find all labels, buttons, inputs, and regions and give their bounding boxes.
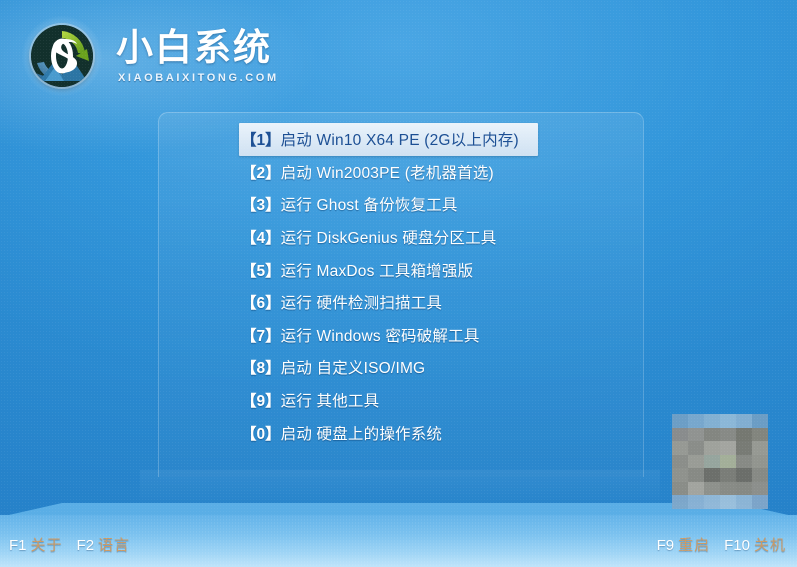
mosaic-tile [704,441,720,455]
brand-subtitle: XIAOBAIXITONG.COM [118,72,279,85]
footer-key-f10[interactable]: F10 [724,537,750,554]
menu-item-9[interactable]: 【9】运行 其他工具 [159,384,643,417]
mosaic-tile [752,482,768,496]
mosaic-tile [672,455,688,469]
mosaic-tile [720,482,736,496]
mosaic-tile [704,468,720,482]
boot-menu-list: 【1】启动 Win10 X64 PE (2G以上内存)【2】启动 Win2003… [159,123,643,449]
menu-item-key: 【9】 [241,389,281,411]
mosaic-tile [688,455,704,469]
mosaic-tile [688,495,704,509]
menu-item-label: 运行 其他工具 [281,389,380,411]
footer-label-f1[interactable]: 关于 [31,537,63,554]
recycle-circle-logo-icon [22,16,102,96]
mosaic-tile [704,495,720,509]
mosaic-tile [720,468,736,482]
mosaic-tile [736,414,752,428]
footer-right-hints: F9重启F10关机 [657,536,786,556]
footer-key-f1[interactable]: F1 [9,537,27,554]
mosaic-tile [720,495,736,509]
brand-title: 小白系统 [116,28,272,68]
menu-item-key: 【5】 [241,259,281,281]
footer-left-hints: F1关于F2语言 [9,536,130,556]
mosaic-tile [736,455,752,469]
mosaic-tile [752,441,768,455]
menu-item-key: 【7】 [241,324,281,346]
mosaic-tile [720,414,736,428]
mosaic-tile [688,441,704,455]
mosaic-tile [704,482,720,496]
menu-item-label: 运行 硬件检测扫描工具 [281,291,443,313]
mosaic-tile [720,428,736,442]
menu-item-key: 【0】 [241,422,281,444]
mosaic-tile [704,455,720,469]
menu-item-label: 启动 自定义ISO/IMG [281,356,426,378]
mosaic-tile [752,414,768,428]
censored-mosaic-block [672,414,768,509]
menu-item-7[interactable]: 【7】运行 Windows 密码破解工具 [159,319,643,352]
menu-item-6[interactable]: 【6】运行 硬件检测扫描工具 [159,286,643,319]
mosaic-tile [672,441,688,455]
menu-item-3[interactable]: 【3】运行 Ghost 备份恢复工具 [159,188,643,221]
mosaic-tile [752,428,768,442]
menu-item-4[interactable]: 【4】运行 DiskGenius 硬盘分区工具 [159,221,643,254]
mosaic-tile [720,441,736,455]
mosaic-tile [672,468,688,482]
menu-item-10[interactable]: 【0】启动 硬盘上的操作系统 [159,416,643,449]
menu-item-key: 【1】 [241,128,281,150]
footer-label-f10[interactable]: 关机 [754,537,786,554]
mosaic-tile [672,414,688,428]
menu-item-key: 【8】 [241,356,281,378]
mosaic-tile [688,414,704,428]
mosaic-tile [736,428,752,442]
boot-menu-screen: 小白系统 XIAOBAIXITONG.COM 【1】启动 Win10 X64 P… [0,0,797,567]
menu-item-label: 运行 Ghost 备份恢复工具 [281,193,458,215]
mosaic-tile [704,414,720,428]
menu-item-5[interactable]: 【5】运行 MaxDos 工具箱增强版 [159,253,643,286]
mosaic-tile [688,482,704,496]
menu-item-label: 启动 Win2003PE (老机器首选) [281,161,494,183]
mosaic-tile [672,482,688,496]
mosaic-tile [752,468,768,482]
menu-item-label: 运行 MaxDos 工具箱增强版 [281,259,474,281]
footer-label-f2[interactable]: 语言 [98,537,130,554]
menu-item-key: 【6】 [241,291,281,313]
mosaic-tile [720,455,736,469]
menu-item-label: 启动 硬盘上的操作系统 [281,422,443,444]
panel-base-shadow [140,470,660,506]
mosaic-tile [672,428,688,442]
menu-panel: 【1】启动 Win10 X64 PE (2G以上内存)【2】启动 Win2003… [158,112,644,477]
mosaic-tile [736,441,752,455]
menu-item-key: 【2】 [241,161,281,183]
menu-item-key: 【3】 [241,193,281,215]
footer-key-f2[interactable]: F2 [77,537,95,554]
mosaic-tile [688,468,704,482]
menu-item-label: 启动 Win10 X64 PE (2G以上内存) [281,128,519,150]
mosaic-tile [752,455,768,469]
footer-key-f9[interactable]: F9 [657,537,675,554]
mosaic-tile [688,428,704,442]
mosaic-tile [752,495,768,509]
menu-item-8[interactable]: 【8】启动 自定义ISO/IMG [159,351,643,384]
mosaic-tile [736,468,752,482]
menu-item-label: 运行 DiskGenius 硬盘分区工具 [281,226,497,248]
mosaic-tile [736,495,752,509]
menu-item-key: 【4】 [241,226,281,248]
mosaic-tile [704,428,720,442]
brand-logo: 小白系统 XIAOBAIXITONG.COM [22,14,322,96]
menu-item-1[interactable]: 【1】启动 Win10 X64 PE (2G以上内存) [239,123,538,156]
mosaic-tile [736,482,752,496]
mosaic-tile [672,495,688,509]
menu-item-2[interactable]: 【2】启动 Win2003PE (老机器首选) [159,156,643,189]
menu-item-label: 运行 Windows 密码破解工具 [281,324,480,346]
footer-label-f9[interactable]: 重启 [678,537,710,554]
